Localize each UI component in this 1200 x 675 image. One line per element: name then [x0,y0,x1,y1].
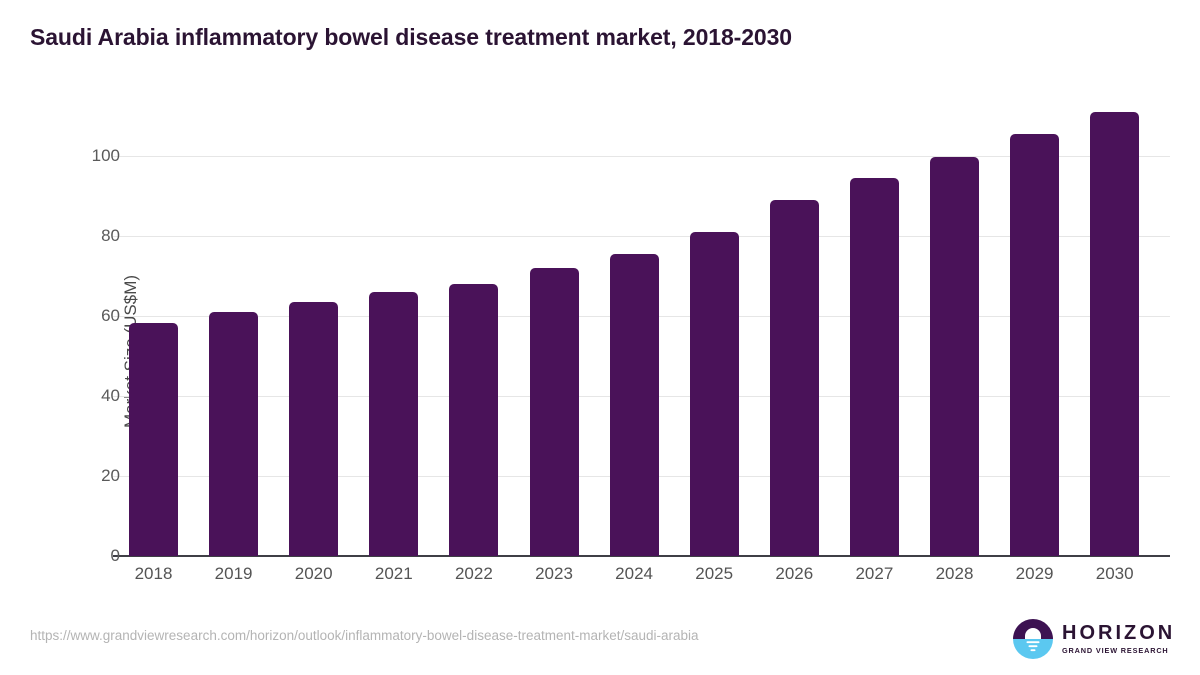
x-axis-tick-label: 2029 [998,564,1071,584]
x-axis-tick-label: 2025 [678,564,751,584]
bar[interactable] [209,312,258,556]
x-axis-tick-label: 2030 [1078,564,1151,584]
bar[interactable] [610,254,659,556]
bar-group: 2029 [1010,100,1090,556]
y-axis-tick-label: 80 [50,226,120,246]
x-axis-tick-label: 2021 [357,564,430,584]
horizon-logo-mark-icon [1013,619,1053,659]
source-url[interactable]: https://www.grandviewresearch.com/horizo… [30,628,699,643]
bar[interactable] [930,157,979,556]
bar-series: 2018201920202021202220232024202520262027… [129,100,1170,556]
logo-wordmark: HORIZON [1062,623,1175,643]
bar[interactable] [690,232,739,556]
y-axis-tick-label: 0 [50,546,120,566]
bar-group: 2030 [1090,100,1170,556]
x-axis-tick-label: 2026 [758,564,831,584]
y-axis-tick-label: 100 [50,146,120,166]
x-axis-tick-label: 2019 [197,564,270,584]
bar[interactable] [449,284,498,556]
bar-group: 2024 [610,100,690,556]
bar[interactable] [289,302,338,556]
bar[interactable] [850,178,899,556]
bar-group: 2026 [770,100,850,556]
horizon-logo-text: HORIZON GRAND VIEW RESEARCH [1062,623,1175,654]
x-axis-tick-label: 2024 [598,564,671,584]
logo-tagline: GRAND VIEW RESEARCH [1062,647,1175,654]
bar-group: 2028 [930,100,1010,556]
x-axis-tick-label: 2018 [117,564,190,584]
bar-group: 2021 [369,100,449,556]
bar-group: 2025 [690,100,770,556]
horizon-logo: HORIZON GRAND VIEW RESEARCH [1013,616,1171,662]
x-axis-tick-label: 2023 [518,564,591,584]
y-axis-tick-label: 20 [50,466,120,486]
chart-canvas: Market Size (US$M) 020406080100 20182019… [0,0,1200,675]
bar[interactable] [530,268,579,556]
bar-group: 2022 [449,100,529,556]
bar[interactable] [770,200,819,556]
x-axis-tick-label: 2028 [918,564,991,584]
bar-group: 2019 [209,100,289,556]
bar-group: 2023 [530,100,610,556]
bar-group: 2018 [129,100,209,556]
y-axis-tick-label: 40 [50,386,120,406]
bar[interactable] [129,323,178,556]
bar-group: 2027 [850,100,930,556]
x-axis-tick-label: 2020 [277,564,350,584]
x-axis-tick-label: 2022 [437,564,510,584]
y-axis-tick-label: 60 [50,306,120,326]
bar[interactable] [369,292,418,556]
bar[interactable] [1010,134,1059,556]
bar-group: 2020 [289,100,369,556]
chart-page: Saudi Arabia inflammatory bowel disease … [0,0,1200,675]
bar[interactable] [1090,112,1139,556]
x-axis-tick-label: 2027 [838,564,911,584]
